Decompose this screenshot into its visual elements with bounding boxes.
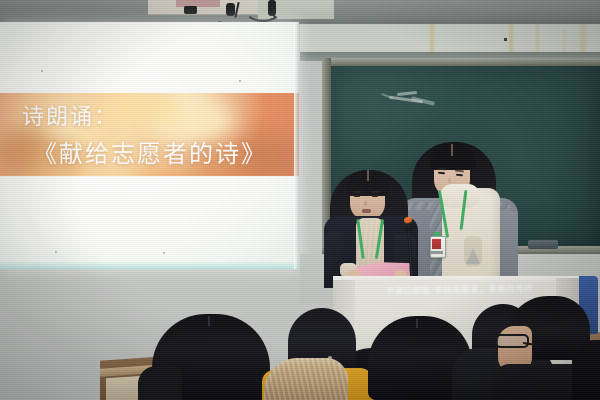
blackboard-eraser — [528, 240, 558, 249]
badge-text — [431, 251, 443, 254]
slide-heading-line2: 《献给志愿者的诗》 — [33, 134, 299, 169]
screen-speck — [41, 70, 43, 72]
shoulder — [138, 366, 182, 400]
wall-streak — [536, 22, 539, 56]
eye — [354, 195, 360, 197]
scarf-neck — [440, 184, 480, 208]
screen-edge — [294, 22, 299, 269]
nose — [448, 178, 451, 183]
audience-member — [572, 340, 600, 400]
projector-mount-icon — [184, 6, 197, 14]
nose — [364, 201, 367, 206]
hair-part — [208, 316, 210, 326]
glasses-icon — [495, 334, 529, 348]
projection-screen: 诗朗诵： 《献给志愿者的诗》 — [0, 22, 299, 269]
hair-part — [416, 319, 418, 328]
mouth — [362, 209, 371, 213]
screen-speck — [163, 252, 165, 254]
screen-speck — [55, 251, 57, 253]
slide-heading-line1: 诗朗诵： — [22, 99, 299, 131]
screen-speck — [239, 80, 241, 82]
eye — [372, 195, 378, 197]
audience-member — [152, 314, 270, 400]
hair-part — [367, 170, 369, 181]
hair-part — [451, 144, 453, 156]
eyebrow — [353, 191, 361, 193]
eyebrow — [371, 191, 379, 193]
wall-mark — [504, 38, 507, 41]
slide-title-band: 诗朗诵： 《献给志愿者的诗》 — [0, 93, 299, 176]
blackboard-frame-top — [322, 58, 600, 66]
fur-hood-texture — [264, 358, 348, 400]
classroom-photo: 诗朗诵： 《献给志愿者的诗》 — [0, 0, 600, 400]
speaker-right — [406, 140, 516, 288]
audience-member-mustard-coat — [268, 308, 374, 400]
badge-photo — [432, 239, 441, 249]
head — [572, 340, 600, 400]
